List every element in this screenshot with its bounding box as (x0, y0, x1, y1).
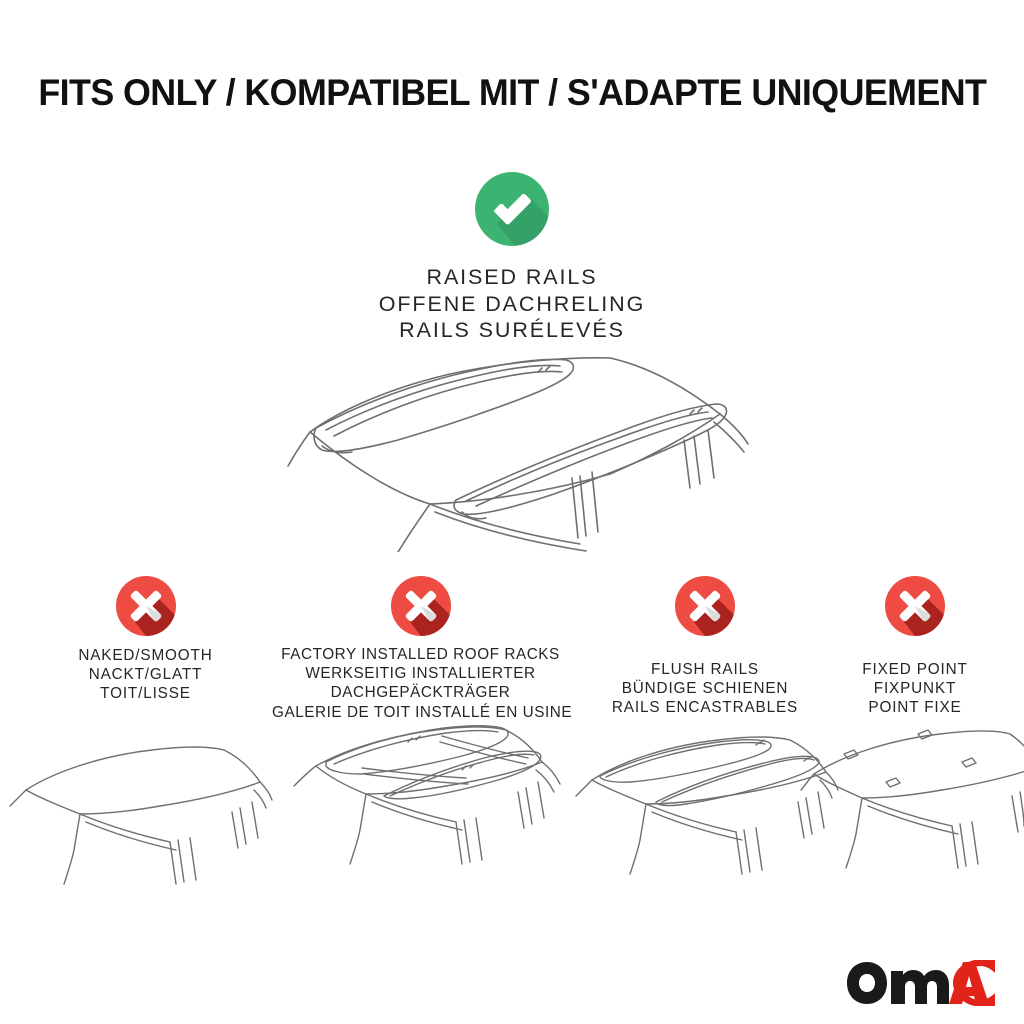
car-roof-fixed-point-illustration (800, 722, 1024, 914)
deny4-label-en: FIXED POINT (836, 660, 994, 679)
compatible-label-de: OFFENE DACHRELING (0, 291, 1024, 318)
not-compatible-item-naked-smooth: NAKED/SMOOTH NACKT/GLATT TOIT/LISSE (23, 576, 268, 704)
deny1-label-en: NAKED/SMOOTH (23, 646, 268, 665)
not-compatible-item-fixed-point: FIXED POINT FIXPUNKT POINT FIXE (836, 576, 994, 718)
omac-logo (845, 960, 997, 1006)
not-compatible-labels: FACTORY INSTALLED ROOF RACKS WERKSEITIG … (272, 645, 569, 722)
deny1-label-de: NACKT/GLATT (23, 665, 268, 684)
compatible-label-en: RAISED RAILS (0, 264, 1024, 291)
compatible-label-fr: RAILS SURÉLEVÉS (0, 317, 1024, 344)
deny3-label-en: FLUSH RAILS (588, 660, 822, 679)
deny2-label-de-1: WERKSEITIG INSTALLIERTER (272, 664, 569, 683)
x-circle-icon (391, 576, 451, 636)
check-circle-icon (475, 172, 549, 246)
deny2-label-de-2: DACHGEPÄCKTRÄGER (272, 683, 569, 702)
car-roof-naked-smooth-illustration (8, 738, 274, 914)
deny2-label-en: FACTORY INSTALLED ROOF RACKS (272, 645, 569, 664)
x-circle-icon (116, 576, 176, 636)
not-compatible-labels: FLUSH RAILS BÜNDIGE SCHIENEN RAILS ENCAS… (588, 660, 822, 718)
car-roof-raised-rails-illustration (280, 352, 750, 552)
compatible-section: RAISED RAILS OFFENE DACHRELING RAILS SUR… (0, 172, 1024, 344)
x-circle-icon (675, 576, 735, 636)
not-compatible-item-factory-roof-racks: FACTORY INSTALLED ROOF RACKS WERKSEITIG … (272, 576, 569, 722)
not-compatible-section: NAKED/SMOOTH NACKT/GLATT TOIT/LISSE FACT… (0, 576, 1024, 726)
not-compatible-labels: FIXED POINT FIXPUNKT POINT FIXE (836, 660, 994, 718)
page-title: FITS ONLY / KOMPATIBEL MIT / S'ADAPTE UN… (0, 70, 1024, 114)
deny2-label-fr: GALERIE DE TOIT INSTALLÉ EN USINE (272, 703, 569, 722)
deny4-label-fr: POINT FIXE (836, 698, 994, 717)
page-title-text: FITS ONLY / KOMPATIBEL MIT / S'ADAPTE UN… (38, 70, 986, 114)
not-compatible-item-flush-rails: FLUSH RAILS BÜNDIGE SCHIENEN RAILS ENCAS… (588, 576, 822, 718)
deny3-label-de: BÜNDIGE SCHIENEN (588, 679, 822, 698)
deny3-label-fr: RAILS ENCASTRABLES (588, 698, 822, 717)
deny4-label-de: FIXPUNKT (836, 679, 994, 698)
car-roof-factory-rack-illustration (284, 722, 576, 914)
deny1-label-fr: TOIT/LISSE (23, 684, 268, 703)
x-circle-icon (885, 576, 945, 636)
not-compatible-labels: NAKED/SMOOTH NACKT/GLATT TOIT/LISSE (23, 646, 268, 704)
compatible-labels: RAISED RAILS OFFENE DACHRELING RAILS SUR… (0, 264, 1024, 344)
